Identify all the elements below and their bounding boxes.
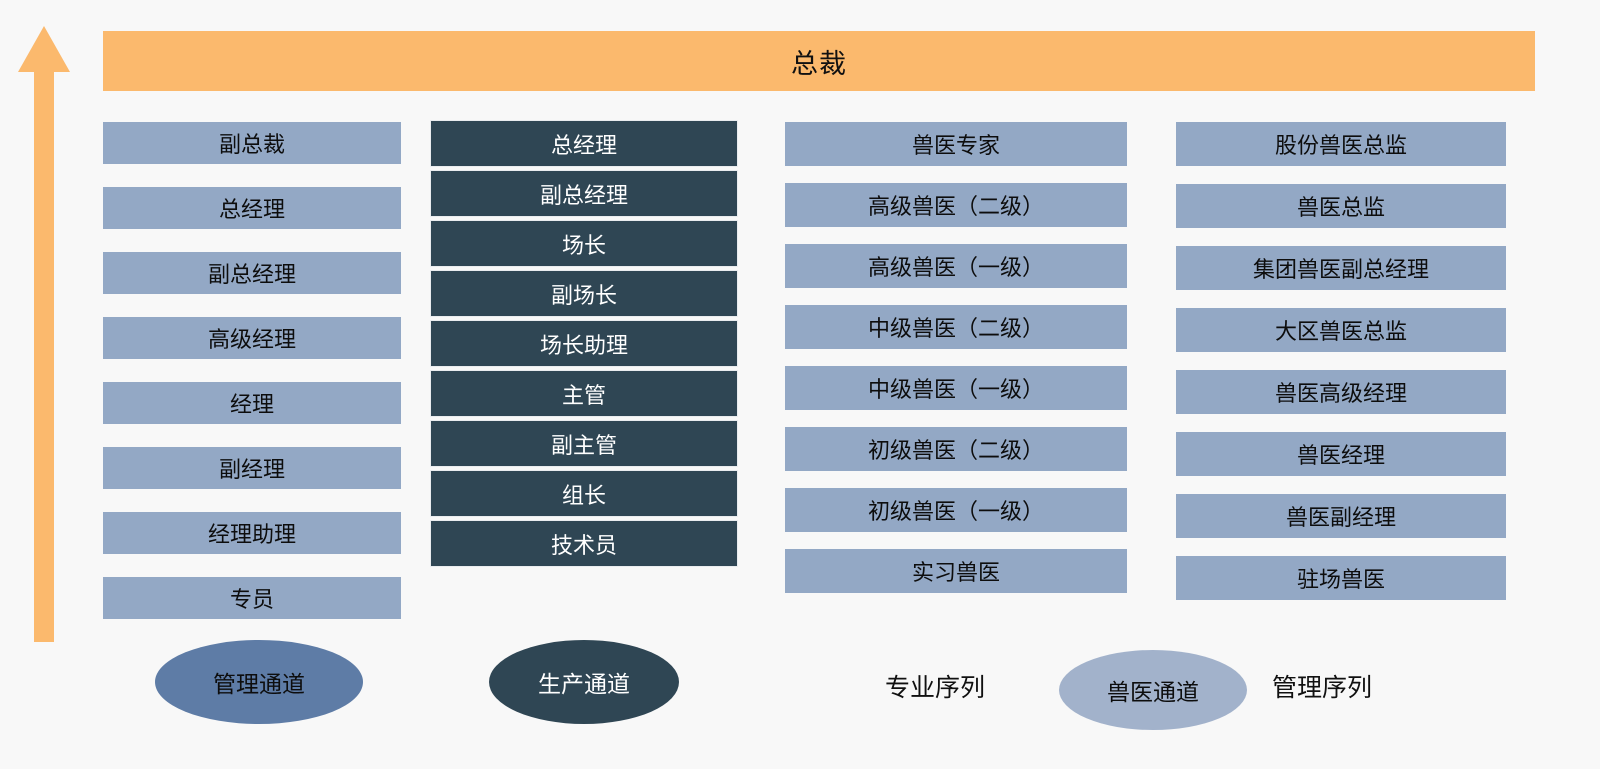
rank-box[interactable]: 副场长 <box>430 270 738 317</box>
column-management: 副总裁 总经理 副总经理 高级经理 经理 副经理 经理助理 专员 <box>103 122 401 642</box>
channel-ellipse-veterinary[interactable]: 兽医通道 <box>1059 650 1247 730</box>
org-rank-chart: 总裁 副总裁 总经理 副总经理 高级经理 经理 副经理 经理助理 专员 总经理 … <box>0 0 1600 769</box>
channel-ellipse-management[interactable]: 管理通道 <box>155 640 363 724</box>
rank-box[interactable]: 高级经理 <box>103 317 401 359</box>
series-label-management: 管理序列 <box>1272 668 1372 704</box>
rank-box[interactable]: 副总裁 <box>103 122 401 164</box>
rank-box[interactable]: 兽医高级经理 <box>1176 370 1506 414</box>
rank-box[interactable]: 兽医副经理 <box>1176 494 1506 538</box>
rank-box[interactable]: 场长助理 <box>430 320 738 367</box>
rank-box[interactable]: 兽医专家 <box>785 122 1127 166</box>
channel-ellipse-production[interactable]: 生产通道 <box>489 640 679 724</box>
rank-box[interactable]: 股份兽医总监 <box>1176 122 1506 166</box>
rank-box[interactable]: 总经理 <box>103 187 401 229</box>
upward-growth-arrow-icon <box>18 26 70 642</box>
rank-box[interactable]: 副经理 <box>103 447 401 489</box>
rank-box[interactable]: 副总经理 <box>430 170 738 217</box>
rank-box[interactable]: 主管 <box>430 370 738 417</box>
top-banner-president: 总裁 <box>103 31 1535 91</box>
rank-box[interactable]: 高级兽医（二级） <box>785 183 1127 227</box>
rank-box[interactable]: 经理助理 <box>103 512 401 554</box>
column-veterinary-management: 股份兽医总监 兽医总监 集团兽医副总经理 大区兽医总监 兽医高级经理 兽医经理 … <box>1176 122 1506 618</box>
rank-box[interactable]: 副主管 <box>430 420 738 467</box>
rank-box[interactable]: 中级兽医（二级） <box>785 305 1127 349</box>
rank-box[interactable]: 初级兽医（二级） <box>785 427 1127 471</box>
rank-box[interactable]: 场长 <box>430 220 738 267</box>
rank-box[interactable]: 组长 <box>430 470 738 517</box>
rank-box[interactable]: 驻场兽医 <box>1176 556 1506 600</box>
rank-box[interactable]: 高级兽医（一级） <box>785 244 1127 288</box>
column-veterinary-professional: 兽医专家 高级兽医（二级） 高级兽医（一级） 中级兽医（二级） 中级兽医（一级）… <box>785 122 1127 610</box>
rank-box[interactable]: 经理 <box>103 382 401 424</box>
rank-box[interactable]: 总经理 <box>430 120 738 167</box>
rank-box[interactable]: 中级兽医（一级） <box>785 366 1127 410</box>
rank-box[interactable]: 兽医总监 <box>1176 184 1506 228</box>
column-production: 总经理 副总经理 场长 副场长 场长助理 主管 副主管 组长 技术员 <box>430 120 738 570</box>
banner-title: 总裁 <box>791 42 847 81</box>
rank-box[interactable]: 大区兽医总监 <box>1176 308 1506 352</box>
rank-box[interactable]: 专员 <box>103 577 401 619</box>
rank-box[interactable]: 实习兽医 <box>785 549 1127 593</box>
rank-box[interactable]: 副总经理 <box>103 252 401 294</box>
rank-box[interactable]: 技术员 <box>430 520 738 567</box>
rank-box[interactable]: 兽医经理 <box>1176 432 1506 476</box>
rank-box[interactable]: 初级兽医（一级） <box>785 488 1127 532</box>
rank-box[interactable]: 集团兽医副总经理 <box>1176 246 1506 290</box>
series-label-professional: 专业序列 <box>885 668 985 704</box>
